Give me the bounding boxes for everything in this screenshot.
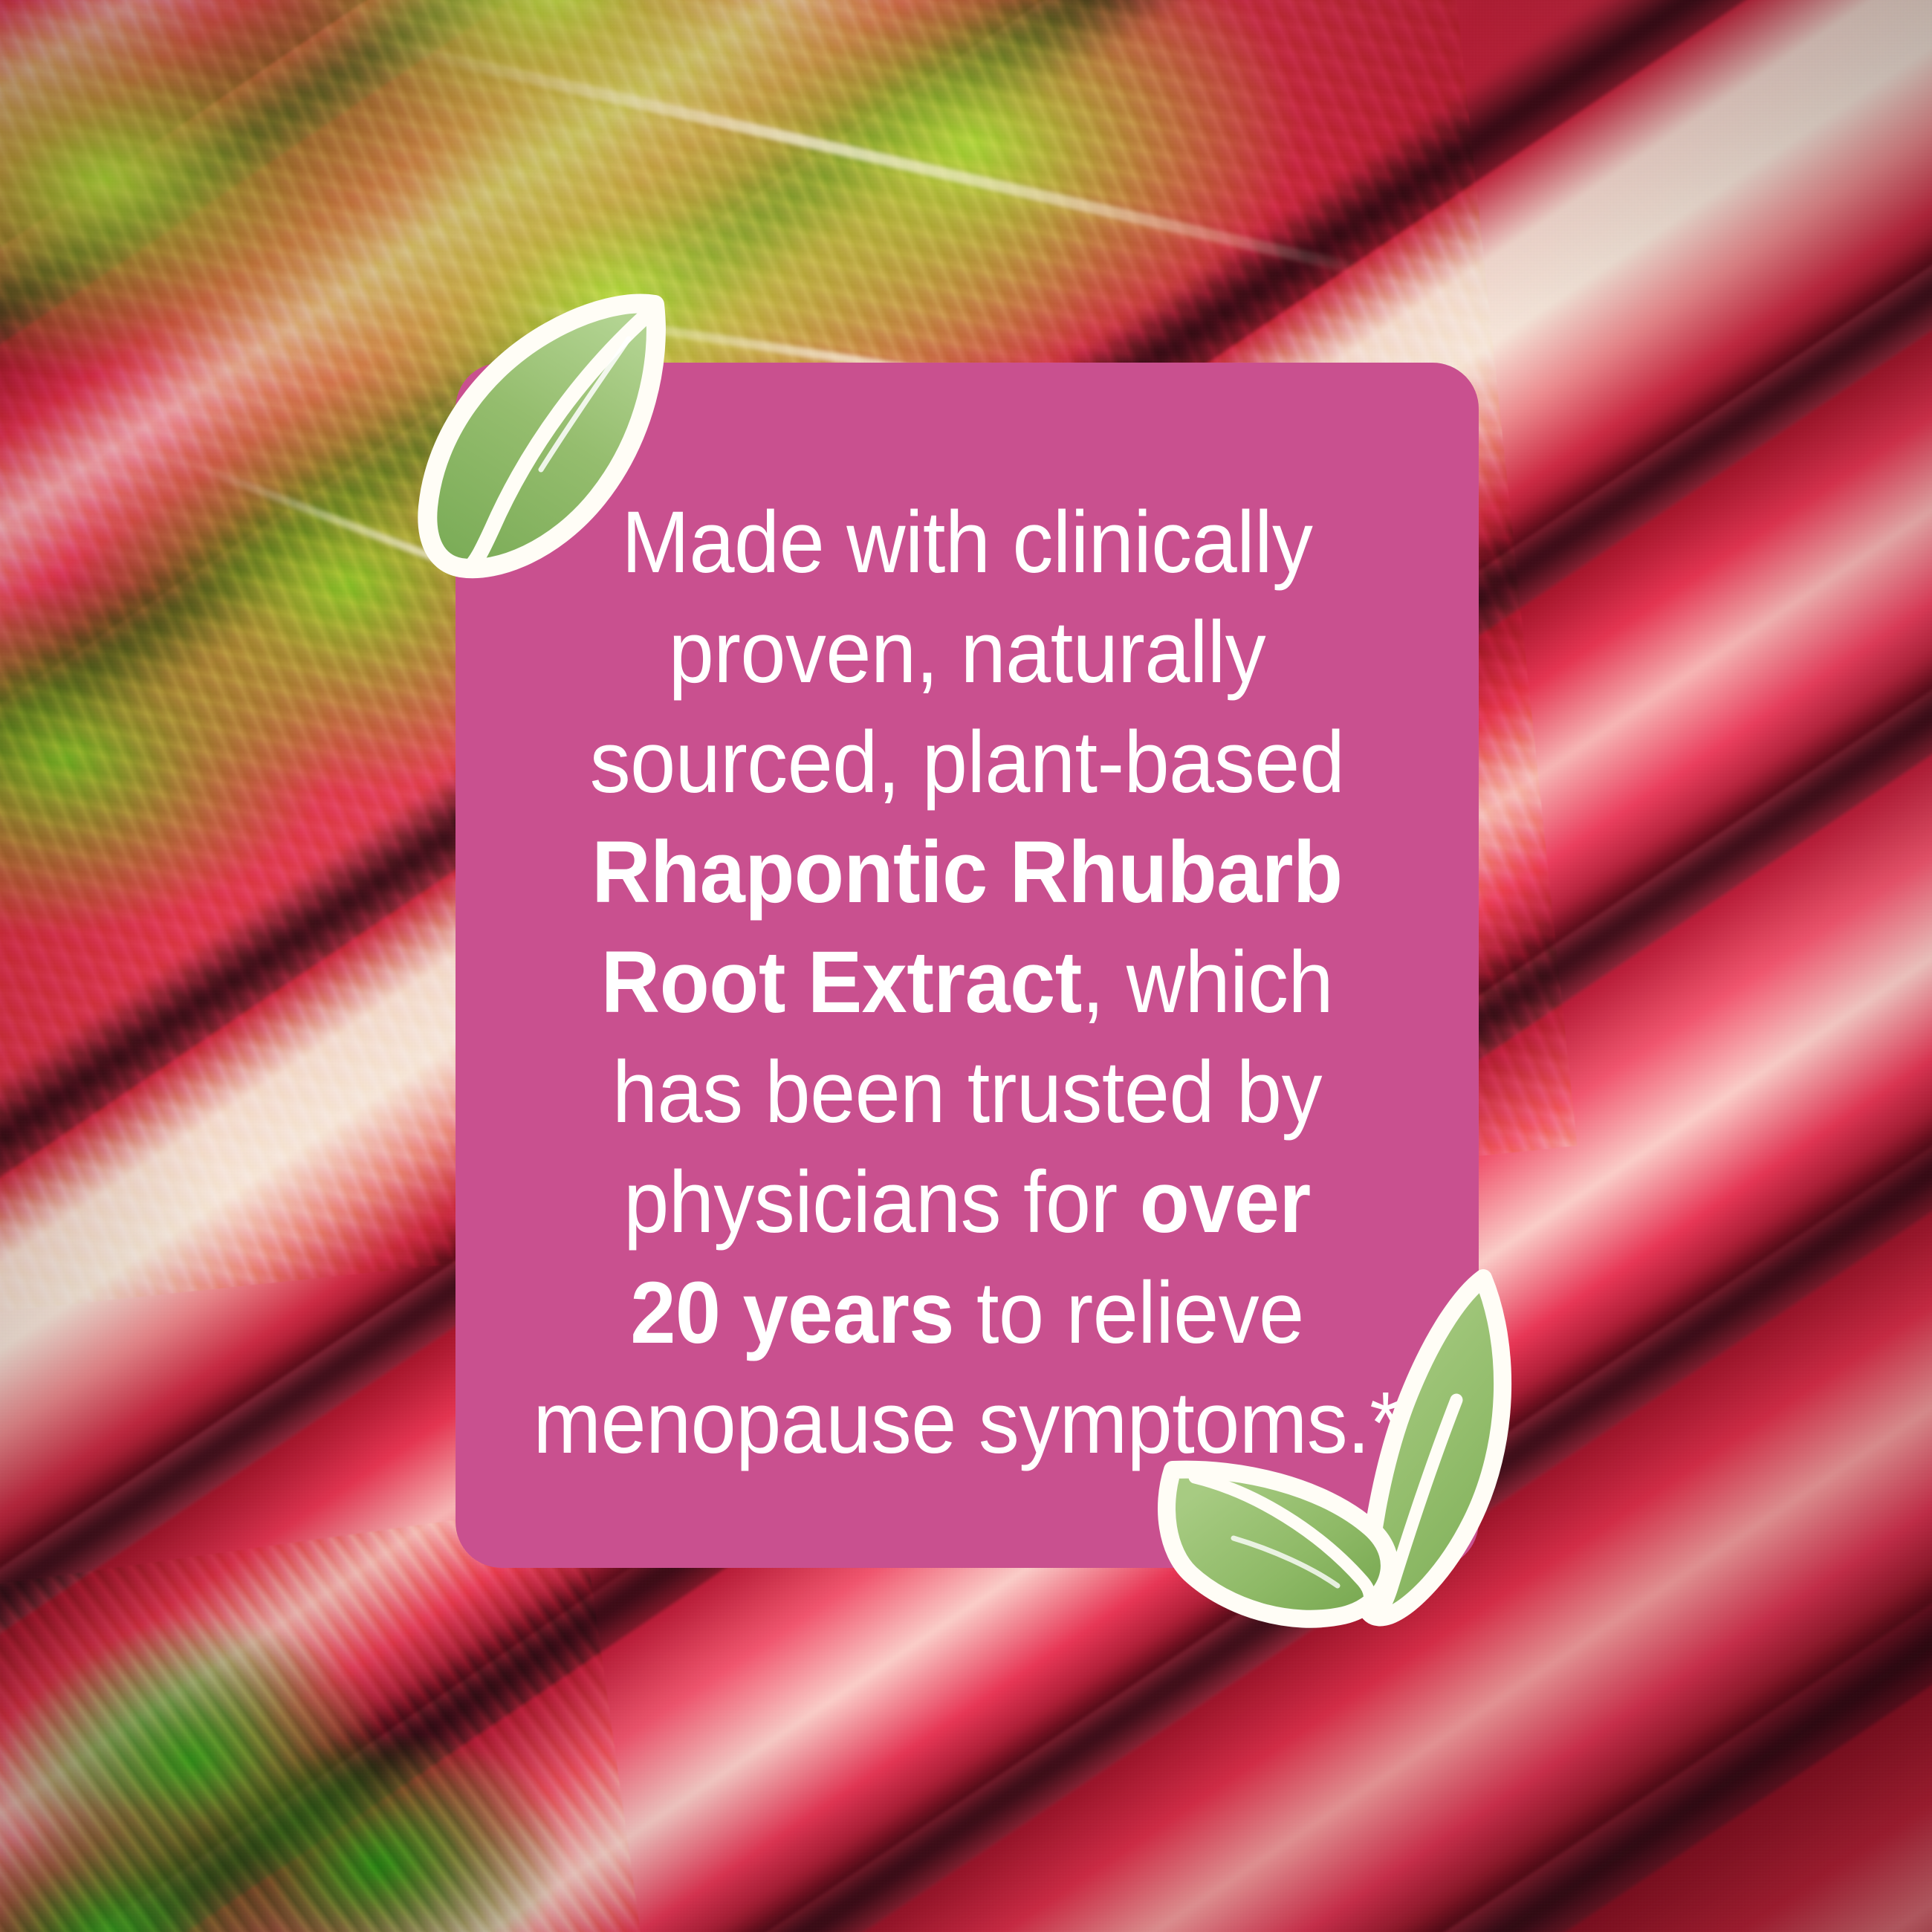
social-graphic-canvas: Made with clinically proven, naturally s… (0, 0, 1932, 1932)
leaf-decoration-top-left (409, 284, 684, 581)
card-body-segment: Made with clinically proven, naturally s… (590, 493, 1345, 811)
leaf-icon (409, 284, 684, 581)
two-leaves-icon (1150, 1254, 1537, 1641)
leaf-decoration-bottom-right (1150, 1254, 1537, 1641)
